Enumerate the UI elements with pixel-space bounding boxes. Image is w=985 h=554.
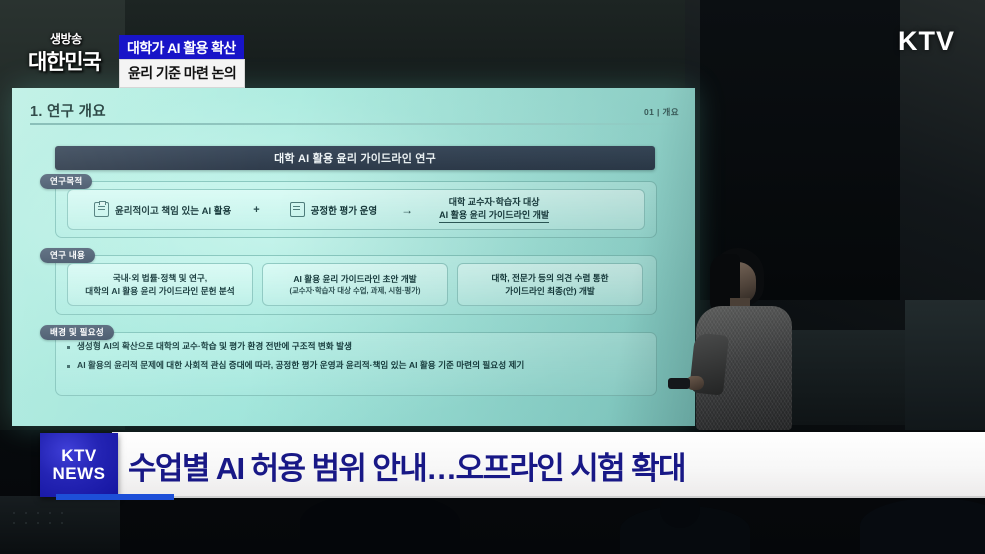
presenter-clicker [668,378,690,389]
topic-banner-primary-label: 대학가 AI 활용 확산 [127,40,236,56]
purpose-content-box: 윤리적이고 책임 있는 AI 활용 + 공정한 평가 운영 → 대학 교수자·학… [67,189,645,230]
desk-texture [8,508,68,532]
station-logo: 생방송 대한민국 [28,30,124,78]
station-logo-live: 생방송 [50,30,82,47]
news-bar-underline [112,496,985,498]
topic-banner-secondary-label: 윤리 기준 마련 논의 [128,65,236,81]
audience-silhouette [300,492,460,554]
background-bullet-text: 생성형 AI의 확산으로 대학의 교수·학습 및 평가 환경 전반에 구조적 변… [77,340,352,352]
foreground-desk [0,496,120,554]
news-headline-text: 수업별 AI 허용 범위 안내…오프라인 시험 확대 [128,443,685,488]
purpose-item-2-label: 공정한 평가 운영 [311,203,377,217]
contents-card-row: 국내·외 법률·정책 및 연구, 대학의 AI 활용 윤리 가이드라인 문헌 분… [67,263,643,306]
purpose-item-1-label: 윤리적이고 책임 있는 AI 활용 [115,203,231,217]
purpose-item-1: 윤리적이고 책임 있는 AI 활용 [94,202,231,217]
purpose-operator: + [253,204,259,216]
purpose-pill: 연구목적 [40,174,92,189]
purpose-item-2: 공정한 평가 운영 [290,202,377,217]
topic-banner-secondary: 윤리 기준 마련 논의 [119,59,245,88]
contents-card-line2: 대학의 AI 활용 윤리 가이드라인 문헌 분석 [85,285,234,298]
bullet-dot-icon [67,365,70,368]
slide-main-banner-label: 대학 AI 활용 윤리 가이드라인 연구 [274,150,436,166]
contents-card-line1: 대학, 전문가 등의 의견 수렴 통한 [491,272,608,285]
news-badge-line2: NEWS [53,465,106,483]
background-bullet-item: AI 활용의 윤리적 문제에 대한 사회적 관심 증대에 따라, 공정한 평가 … [67,359,643,371]
station-logo-name: 대한민국 [28,46,100,76]
news-headline: 수업별 AI 허용 범위 안내…오프라인 시험 확대 [128,432,685,498]
purpose-result-line1: 대학 교수자·학습자 대상 [439,196,549,209]
broadcast-frame: 1. 연구 개요 01 | 개요 대학 AI 활용 윤리 가이드라인 연구 연구… [0,0,985,554]
bullet-dot-icon [67,346,70,349]
contents-card: 대학, 전문가 등의 의견 수렴 통한 가이드라인 최종(안) 개발 [457,263,643,306]
audience-silhouette [860,498,985,554]
ktv-watermark: KTV [898,26,955,57]
background-pill: 배경 및 필요성 [40,325,114,340]
slide-main-banner: 대학 AI 활용 윤리 가이드라인 연구 [55,146,655,170]
slide-section-title: 1. 연구 개요 [30,100,106,121]
presenter-speaker [690,248,795,430]
topic-banner-primary: 대학가 AI 활용 확산 [119,35,244,62]
projected-slide: 1. 연구 개요 01 | 개요 대학 AI 활용 윤리 가이드라인 연구 연구… [12,88,695,426]
background-bullet-item: 생성형 AI의 확산으로 대학의 교수·학습 및 평가 환경 전반에 구조적 변… [67,340,643,352]
slide-page-tag: 01 | 개요 [644,106,679,118]
purpose-arrow: → [401,203,413,217]
news-bar-accent-strip [56,494,174,500]
purpose-result-line2: AI 활용 윤리 가이드라인 개발 [439,209,549,224]
contents-card-line1: 국내·외 법률·정책 및 연구, [113,272,207,285]
contents-card-line1: AI 활용 윤리 가이드라인 초안 개발 [293,273,416,286]
news-badge-line1: KTV [61,447,97,465]
contents-card-line2: 가이드라인 최종(안) 개발 [505,285,595,298]
news-lower-third: 수업별 AI 허용 범위 안내…오프라인 시험 확대 KTV NEWS [0,432,985,498]
news-badge: KTV NEWS [40,433,118,497]
background-bullet-text: AI 활용의 윤리적 문제에 대한 사회적 관심 증대에 따라, 공정한 평가 … [77,359,524,371]
background-furniture-far-right [905,300,985,430]
contents-card: 국내·외 법률·정책 및 연구, 대학의 AI 활용 윤리 가이드라인 문헌 분… [67,263,253,306]
purpose-result: 대학 교수자·학습자 대상 AI 활용 윤리 가이드라인 개발 [439,196,549,224]
contents-pill: 연구 내용 [40,248,95,263]
background-bullet-list: 생성형 AI의 확산으로 대학의 교수·학습 및 평가 환경 전반에 구조적 변… [67,340,643,378]
clipboard-icon [94,202,109,217]
document-check-icon [290,202,305,217]
slide-title-divider [30,123,681,125]
contents-card-line2: (교수자·학습자 대상 수업, 과제, 시험·평가) [290,285,421,296]
contents-card: AI 활용 윤리 가이드라인 초안 개발 (교수자·학습자 대상 수업, 과제,… [262,263,448,306]
